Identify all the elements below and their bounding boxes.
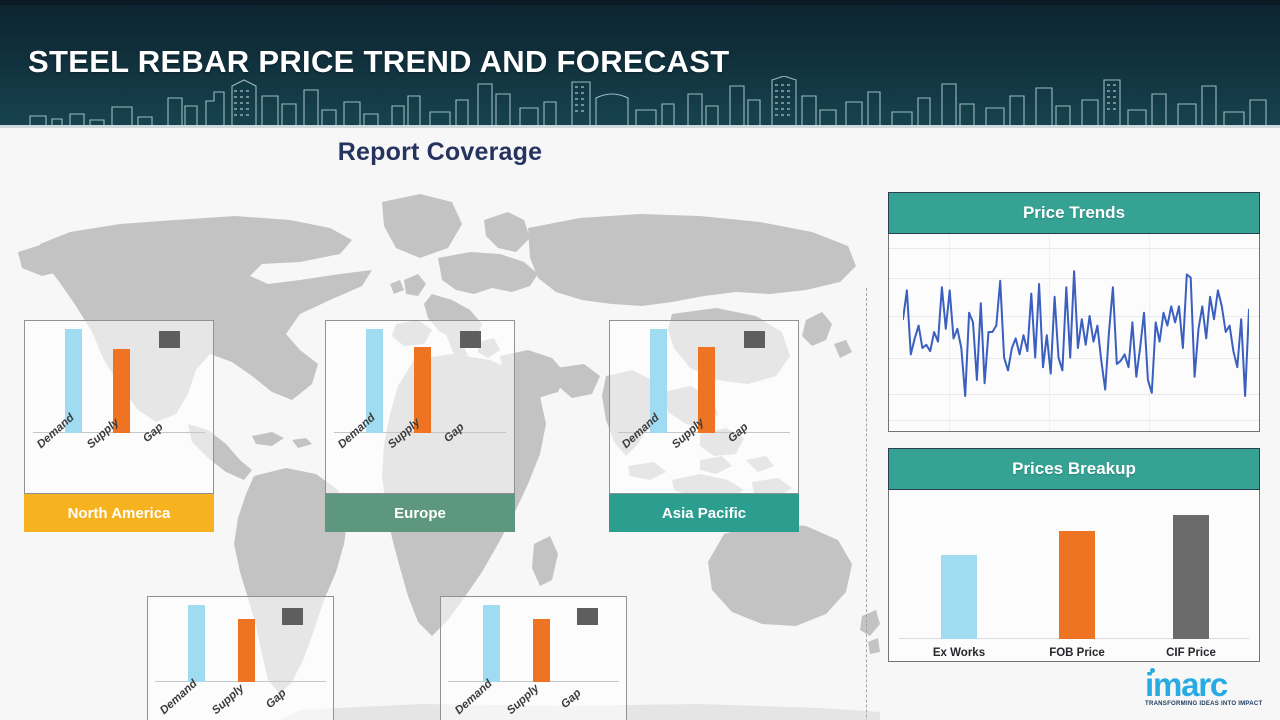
region-card-latin-america[interactable]: Demand Supply Gap Latin America xyxy=(147,596,334,720)
bar-category-cif-price: CIF Price xyxy=(1141,647,1241,659)
bar-category-ex-works: Ex Works xyxy=(909,647,1009,659)
page-title: STEEL REBAR PRICE TREND AND FORECAST xyxy=(28,44,729,80)
bar-gap xyxy=(159,331,180,348)
region-label-text: North America xyxy=(68,505,171,522)
logo-tagline: TRANSFORMING IDEAS INTO IMPACT xyxy=(1145,700,1271,708)
panel-price-trends[interactable]: Price Trends xyxy=(888,192,1260,432)
bar-cif-price xyxy=(1173,515,1209,639)
trend-polyline xyxy=(903,271,1249,396)
region-chart-asia-pacific: Demand Supply Gap xyxy=(609,320,799,494)
logo-dot-icon xyxy=(1150,668,1155,673)
bar-gap xyxy=(460,331,481,348)
region-label-europe[interactable]: Europe xyxy=(325,494,515,532)
bar-gap xyxy=(744,331,765,348)
region-chart-europe: Demand Supply Gap xyxy=(325,320,515,494)
region-label-text: Europe xyxy=(394,505,446,522)
bar-gap xyxy=(577,608,598,625)
panel-body-prices-breakup: Ex Works FOB Price CIF Price xyxy=(888,490,1260,662)
content-area: Demand Supply Gap North America Demand S… xyxy=(0,128,1280,720)
region-chart-middle-east-africa: Demand Supply Gap xyxy=(440,596,627,720)
city-skyline-icon xyxy=(0,76,1280,128)
bar-group xyxy=(326,321,514,493)
panel-body-price-trends xyxy=(888,234,1260,432)
region-card-north-america[interactable]: Demand Supply Gap North America xyxy=(24,320,214,532)
region-chart-latin-america: Demand Supply Gap xyxy=(147,596,334,720)
bar-demand xyxy=(483,605,500,682)
bar-demand xyxy=(188,605,205,682)
vertical-divider xyxy=(866,288,867,720)
region-card-europe[interactable]: Demand Supply Gap Europe xyxy=(325,320,515,532)
bar-supply xyxy=(238,619,255,682)
bar-gap xyxy=(282,608,303,625)
slide-root: STEEL REBAR PRICE TREND AND FORECAST xyxy=(0,0,1280,720)
region-card-asia-pacific[interactable]: Demand Supply Gap Asia Pacific xyxy=(609,320,799,532)
region-label-text: Asia Pacific xyxy=(662,505,746,522)
section-title: Report Coverage xyxy=(0,138,880,167)
panel-prices-breakup[interactable]: Prices Breakup Ex Works FOB Price CIF Pr… xyxy=(888,448,1260,662)
bar-category-fob-price: FOB Price xyxy=(1027,647,1127,659)
bar-supply xyxy=(533,619,550,682)
bar-ex-works xyxy=(941,555,977,639)
region-card-middle-east-africa[interactable]: Demand Supply Gap Middle East & Africa xyxy=(440,596,627,720)
logo-wordmark: imarc xyxy=(1145,670,1271,700)
panel-header-prices-breakup: Prices Breakup xyxy=(888,448,1260,490)
bar-fob-price xyxy=(1059,531,1095,639)
bar-group xyxy=(610,321,798,493)
imarc-logo[interactable]: imarc TRANSFORMING IDEAS INTO IMPACT xyxy=(1145,670,1271,716)
panel-title: Price Trends xyxy=(1023,203,1125,223)
header-banner: STEEL REBAR PRICE TREND AND FORECAST xyxy=(0,0,1280,128)
region-chart-north-america: Demand Supply Gap xyxy=(24,320,214,494)
bar-group xyxy=(25,321,213,493)
panel-title: Prices Breakup xyxy=(1012,459,1136,479)
region-label-asia-pacific[interactable]: Asia Pacific xyxy=(609,494,799,532)
banner-top-rule xyxy=(0,0,1280,5)
price-trend-line-chart xyxy=(903,244,1249,422)
region-label-north-america[interactable]: North America xyxy=(24,494,214,532)
panel-header-price-trends: Price Trends xyxy=(888,192,1260,234)
